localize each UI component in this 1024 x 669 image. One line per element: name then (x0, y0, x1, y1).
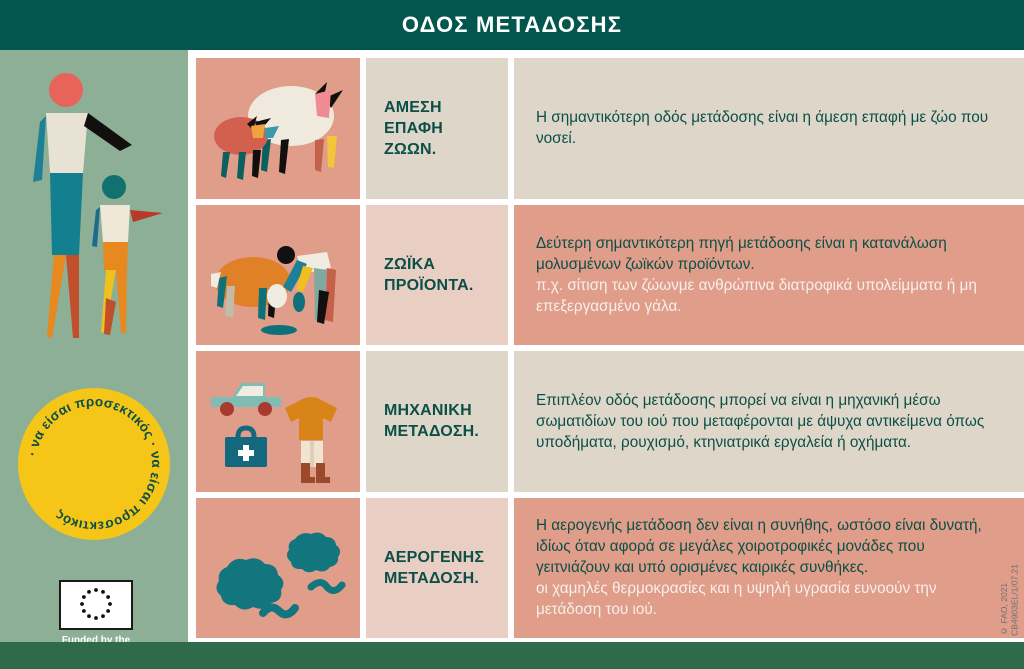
row-paragraph: Η αερογενής μετάδοση δεν είναι η συνήθης… (536, 515, 998, 578)
table-row: ΜΗΧΑΝΙΚΗ ΜΕΤΑΔΟΣΗ. Επιπλέον οδός μετάδοσ… (196, 351, 1024, 492)
row-label-line: ΑΜΕΣΗ (384, 97, 443, 118)
row-body-cell: Η αερογενής μετάδοση δεν είναι η συνήθης… (514, 498, 1024, 639)
row-label-cell: ΖΩΪΚΑ ΠΡΟΪΟΝΤΑ. (366, 205, 508, 346)
credit-line-2: CB4903EL/1/07.21 (1009, 564, 1020, 636)
row-icon-cell (196, 498, 360, 639)
table-row: ΖΩΪΚΑ ΠΡΟΪΟΝΤΑ. Δεύτερη σημαντικότερη πη… (196, 205, 1024, 346)
row-label-line: ΖΩΩΝ. (384, 139, 443, 160)
credit-line-1: © FAO, 2021 (999, 564, 1010, 636)
row-paragraph-secondary: π.χ. σίτιση των ζώωνμε ανθρώπινα διατροφ… (536, 275, 998, 317)
row-paragraph: Επιπλέον οδός μετάδοσης μπορεί να είναι … (536, 390, 998, 453)
page-title: ΟΔΟΣ ΜΕΤΑΔΟΣΗΣ (402, 12, 622, 38)
row-body-cell: Η σημαντικότερη οδός μετάδοσης είναι η ά… (514, 58, 1024, 199)
be-careful-badge: · να είσαι προσεκτικός · να είσαι προσεκ… (18, 388, 170, 540)
bottom-bar (0, 642, 1024, 669)
row-label-text: ΑΜΕΣΗ ΕΠΑΦΗ ΖΩΩΝ. (384, 97, 443, 160)
eu-flag-icon (59, 580, 133, 630)
copyright-credit: © FAO, 2021 CB4903EL/1/07.21 (999, 564, 1020, 636)
row-label-text: ΖΩΪΚΑ ΠΡΟΪΟΝΤΑ. (384, 254, 474, 296)
row-label-line: ΠΡΟΪΟΝΤΑ. (384, 275, 474, 296)
row-paragraph-secondary: οι χαμηλές θερμοκρασίες και η υψηλή υγρα… (536, 578, 998, 620)
row-paragraph: Η σημαντικότερη οδός μετάδοσης είναι η ά… (536, 107, 998, 149)
left-illustration-panel: · να είσαι προσεκτικός · να είσαι προσεκ… (0, 50, 188, 642)
row-icon-cell (196, 351, 360, 492)
row-body-cell: Δεύτερη σημαντικότερη πηγή μετάδοσης είν… (514, 205, 1024, 346)
row-label-cell: ΑΜΕΣΗ ΕΠΑΦΗ ΖΩΩΝ. (366, 58, 508, 199)
row-body-cell: Επιπλέον οδός μετάδοσης μπορεί να είναι … (514, 351, 1024, 492)
row-label-line: ΜΕΤΑΔΟΣΗ. (384, 421, 479, 442)
row-label-line: ΜΕΤΑΔΟΣΗ. (384, 568, 484, 589)
infographic-page: ΟΔΟΣ ΜΕΤΑΔΟΣΗΣ (0, 0, 1024, 669)
row-label-text: ΑΕΡΟΓΕΝΗΣ ΜΕΤΑΔΟΣΗ. (384, 547, 484, 589)
row-label-cell: ΜΗΧΑΝΙΚΗ ΜΕΤΑΔΟΣΗ. (366, 351, 508, 492)
badge-circular-text: · να είσαι προσεκτικός · να είσαι προσεκ… (18, 388, 170, 540)
row-icon-cell (196, 205, 360, 346)
table-row: ΑΕΡΟΓΕΝΗΣ ΜΕΤΑΔΟΣΗ. Η αερογενής μετάδοση… (196, 498, 1024, 639)
page-header: ΟΔΟΣ ΜΕΤΑΔΟΣΗΣ (0, 0, 1024, 50)
vehicle-bag-clothing-boots-icon (203, 359, 353, 484)
two-pigs-direct-contact-icon (203, 68, 353, 188)
row-icon-cell (196, 58, 360, 199)
row-label-line: ΖΩΪΚΑ (384, 254, 474, 275)
table-row: ΑΜΕΣΗ ΕΠΑΦΗ ΖΩΩΝ. Η σημαντικότερη οδός μ… (196, 58, 1024, 199)
eu-stars (61, 582, 131, 628)
feeding-pig-animal-products-icon (203, 212, 353, 337)
row-label-line: ΑΕΡΟΓΕΝΗΣ (384, 547, 484, 568)
svg-text:· να είσαι προσεκτικός · να εί: · να είσαι προσεκτικός · να είσαι προσεκ… (25, 394, 164, 534)
adult-and-child-figures-illustration (0, 50, 188, 350)
airborne-clouds-icon (203, 505, 353, 630)
row-label-line: ΕΠΑΦΗ (384, 118, 443, 139)
row-paragraph: Δεύτερη σημαντικότερη πηγή μετάδοσης είν… (536, 233, 998, 275)
row-label-text: ΜΗΧΑΝΙΚΗ ΜΕΤΑΔΟΣΗ. (384, 400, 479, 442)
transmission-routes-table: ΑΜΕΣΗ ΕΠΑΦΗ ΖΩΩΝ. Η σημαντικότερη οδός μ… (196, 58, 1024, 638)
row-label-line: ΜΗΧΑΝΙΚΗ (384, 400, 479, 421)
row-label-cell: ΑΕΡΟΓΕΝΗΣ ΜΕΤΑΔΟΣΗ. (366, 498, 508, 639)
